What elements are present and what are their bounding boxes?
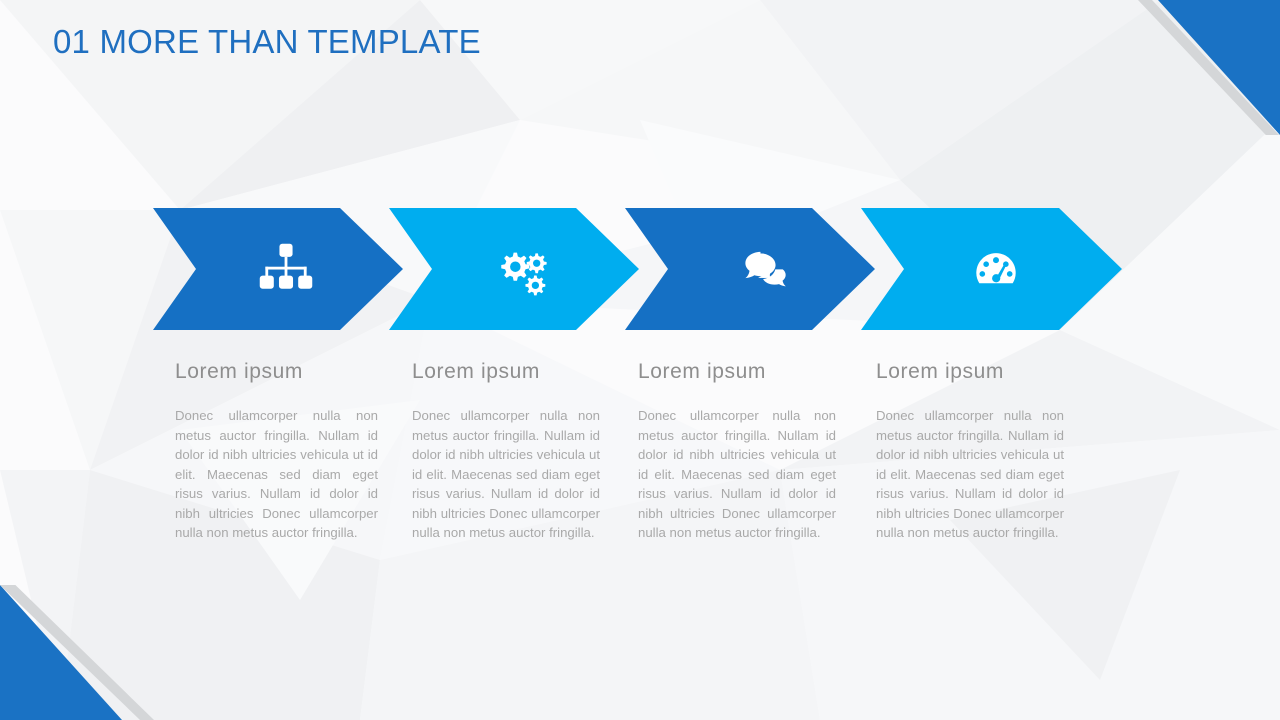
step-body-4: Donec ullamcorper nulla non metus auctor… <box>876 406 1064 543</box>
step-heading-3: Lorem ipsum <box>638 360 836 384</box>
speech-bubbles-icon <box>730 240 790 300</box>
corner-decoration-top-right <box>1120 0 1280 135</box>
speedometer-icon <box>966 240 1026 300</box>
step-column-4: Lorem ipsum Donec ullamcorper nulla non … <box>876 360 1064 543</box>
gears-icon <box>493 240 553 300</box>
page-title: 01 MORE THAN TEMPLATE <box>53 23 481 61</box>
step-description-columns: Lorem ipsum Donec ullamcorper nulla non … <box>0 360 1280 610</box>
step-heading-4: Lorem ipsum <box>876 360 1064 384</box>
step-heading-2: Lorem ipsum <box>412 360 600 384</box>
step-column-1: Lorem ipsum Donec ullamcorper nulla non … <box>175 360 378 543</box>
slide-canvas: 01 MORE THAN TEMPLATE <box>0 0 1280 720</box>
step-column-2: Lorem ipsum Donec ullamcorper nulla non … <box>412 360 600 543</box>
chevron-shapes <box>0 200 1280 338</box>
step-body-3: Donec ullamcorper nulla non metus auctor… <box>638 406 836 543</box>
step-column-3: Lorem ipsum Donec ullamcorper nulla non … <box>638 360 836 543</box>
process-chevron-band <box>0 200 1280 338</box>
step-heading-1: Lorem ipsum <box>175 360 378 384</box>
step-body-2: Donec ullamcorper nulla non metus auctor… <box>412 406 600 543</box>
step-body-1: Donec ullamcorper nulla non metus auctor… <box>175 406 378 543</box>
org-chart-icon <box>256 240 316 300</box>
